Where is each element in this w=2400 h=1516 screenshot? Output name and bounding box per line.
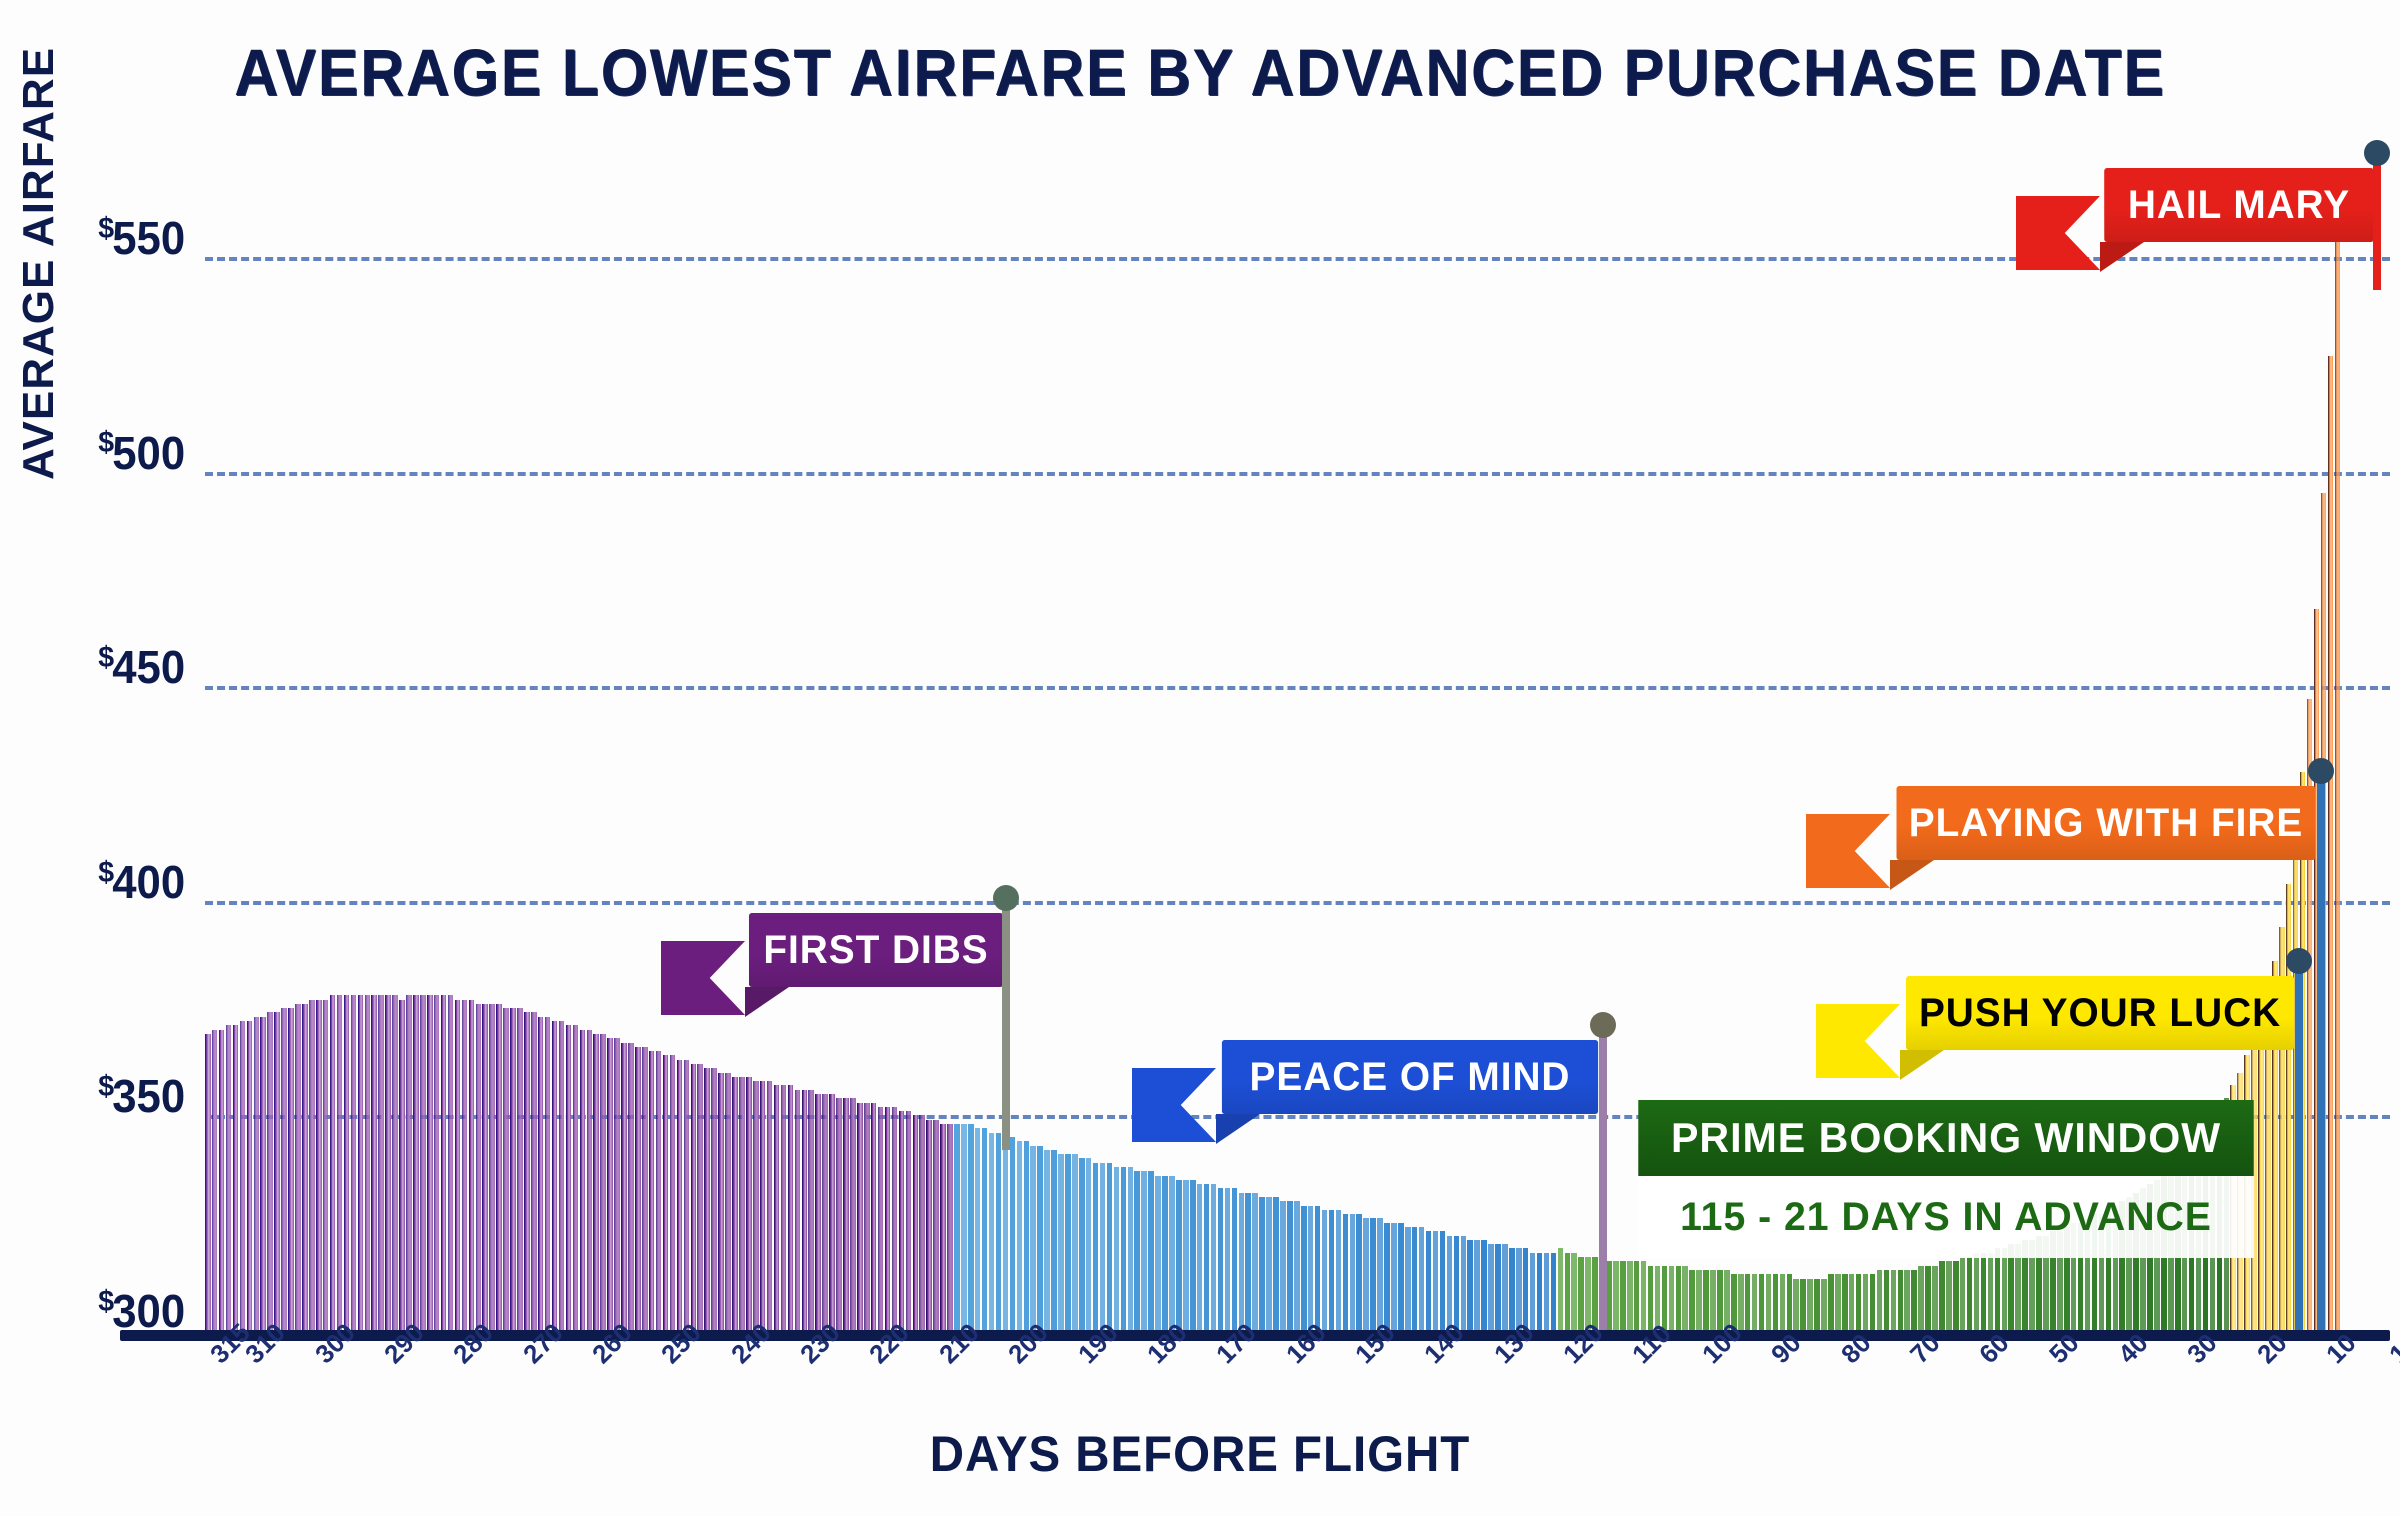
flag-label-hail-mary: HAIL MARY [2104, 168, 2374, 242]
y-tick-550: $550 [98, 211, 185, 265]
y-tick-500: $500 [98, 426, 185, 480]
bar [1967, 1257, 1973, 1330]
bar [469, 1000, 475, 1330]
bar [656, 1051, 662, 1330]
bar [1946, 1261, 1952, 1330]
bar [1960, 1257, 1966, 1330]
bar [1925, 1266, 1931, 1330]
bar [1211, 1184, 1217, 1330]
bar [316, 1000, 322, 1330]
bar [1017, 1141, 1023, 1330]
bar [1849, 1274, 1855, 1330]
bar [1197, 1184, 1203, 1330]
bar [600, 1034, 606, 1330]
bar [552, 1021, 558, 1330]
bar [892, 1107, 898, 1330]
bar [871, 1103, 877, 1330]
bar [795, 1090, 801, 1330]
bar [1835, 1274, 1841, 1330]
bar [1787, 1274, 1793, 1330]
bar [281, 1008, 287, 1330]
bar [1148, 1171, 1154, 1330]
bar [1259, 1197, 1265, 1330]
bar [1884, 1270, 1890, 1330]
bar [1904, 1270, 1910, 1330]
bar [1932, 1266, 1938, 1330]
bar [926, 1120, 932, 1330]
bar [1037, 1146, 1043, 1331]
bar [1391, 1223, 1397, 1330]
bar [566, 1025, 572, 1330]
bar [392, 995, 398, 1330]
bar [996, 1133, 1002, 1330]
bar [1433, 1231, 1439, 1330]
bar [1995, 1248, 2001, 1330]
bar [1821, 1279, 1827, 1330]
bar [1523, 1248, 1529, 1330]
bar [1592, 1257, 1598, 1330]
flag-pole-push-your-luck [2295, 964, 2303, 1330]
bar [1689, 1270, 1695, 1330]
prime-booking-window-subtitle: 115 - 21 DAYS IN ADVANCE [1638, 1176, 2253, 1258]
bar [732, 1077, 738, 1330]
bar [614, 1038, 620, 1330]
flag-pin-first-dibs [993, 885, 1019, 911]
bar [1898, 1270, 1904, 1330]
bar [1280, 1201, 1286, 1330]
bar [1676, 1266, 1682, 1330]
x-axis-title: DAYS BEFORE FLIGHT [60, 1425, 2340, 1483]
bar [767, 1081, 773, 1330]
bar [427, 995, 433, 1330]
y-tick-300: $300 [98, 1284, 185, 1338]
bar [621, 1043, 627, 1330]
flag-pole-hail-mary [2373, 156, 2381, 290]
bar [1544, 1253, 1550, 1330]
bar [406, 995, 412, 1330]
bar [1814, 1279, 1820, 1330]
bar [1565, 1253, 1571, 1330]
bar [1856, 1274, 1862, 1330]
bar [1190, 1180, 1196, 1330]
bar [829, 1094, 835, 1330]
bar [1405, 1227, 1411, 1330]
bar [1010, 1137, 1016, 1330]
bar [1974, 1253, 1980, 1330]
bar [1329, 1210, 1335, 1330]
bar [1988, 1253, 1994, 1330]
bar [399, 1000, 405, 1330]
bar [219, 1030, 225, 1330]
bar [1571, 1253, 1577, 1330]
bar [309, 1000, 315, 1330]
bar [1495, 1244, 1501, 1330]
bar [1759, 1274, 1765, 1330]
bar [1766, 1274, 1772, 1330]
bar [1669, 1266, 1675, 1330]
flag-pin-push-your-luck [2286, 948, 2312, 974]
bar [1121, 1167, 1127, 1330]
bar [628, 1043, 634, 1330]
bar [822, 1094, 828, 1330]
bar [649, 1051, 655, 1330]
bar [982, 1128, 988, 1330]
bar [691, 1064, 697, 1330]
bar [1558, 1248, 1564, 1330]
bar [1356, 1214, 1362, 1330]
bar [906, 1111, 912, 1330]
bar [933, 1120, 939, 1330]
bar [989, 1133, 995, 1330]
chart-title: AVERAGE LOWEST AIRFARE BY ADVANCED PURCH… [96, 34, 2304, 110]
prime-booking-window-title: PRIME BOOKING WINDOW [1638, 1100, 2253, 1176]
bar [1266, 1197, 1272, 1330]
bar [538, 1017, 544, 1330]
bar [1703, 1270, 1709, 1330]
bar [864, 1103, 870, 1330]
bar [1114, 1167, 1120, 1330]
bar [697, 1064, 703, 1330]
bar [815, 1094, 821, 1330]
bar [968, 1124, 974, 1330]
bar [2328, 356, 2334, 1330]
bar [1662, 1266, 1668, 1330]
flag-pole-first-dibs [1002, 901, 1010, 1150]
bar [1981, 1253, 1987, 1330]
bar [919, 1115, 925, 1330]
bar [1141, 1171, 1147, 1330]
bar [843, 1098, 849, 1330]
bar [1627, 1261, 1633, 1330]
bar [476, 1004, 482, 1330]
bar [531, 1012, 537, 1330]
bar [1530, 1253, 1536, 1330]
bar [1343, 1214, 1349, 1330]
bar [351, 995, 357, 1330]
bar [961, 1124, 967, 1330]
bar [510, 1008, 516, 1330]
bar [233, 1025, 239, 1330]
bar [323, 1000, 329, 1330]
bar [753, 1081, 759, 1330]
bar [1537, 1253, 1543, 1330]
bar [1044, 1150, 1050, 1330]
bar [378, 995, 384, 1330]
bar [1419, 1227, 1425, 1330]
bar [1287, 1201, 1293, 1330]
bar [1100, 1163, 1106, 1330]
bar [1398, 1223, 1404, 1330]
bar [1461, 1236, 1467, 1330]
bar [878, 1107, 884, 1330]
bar [496, 1004, 502, 1330]
bar [670, 1055, 676, 1330]
bar [1336, 1210, 1342, 1330]
bar [725, 1073, 731, 1330]
bar [1079, 1158, 1085, 1330]
bar [1065, 1154, 1071, 1330]
bar [1350, 1214, 1356, 1330]
bar [1252, 1193, 1258, 1330]
bar [607, 1038, 613, 1330]
bar [1377, 1218, 1383, 1330]
bar [1322, 1210, 1328, 1330]
bar [2002, 1248, 2008, 1330]
bar [1502, 1244, 1508, 1330]
bar [1384, 1223, 1390, 1330]
bar [371, 995, 377, 1330]
bar [718, 1073, 724, 1330]
y-tick-350: $350 [98, 1069, 185, 1123]
bar [274, 1012, 280, 1330]
bar [704, 1068, 710, 1330]
bar [1773, 1274, 1779, 1330]
bar [1641, 1261, 1647, 1330]
bar [205, 1034, 211, 1330]
bar [1024, 1141, 1030, 1330]
bar [1273, 1197, 1279, 1330]
bar [455, 1000, 461, 1330]
bar [1474, 1240, 1480, 1330]
bar [1169, 1176, 1175, 1330]
bar [1800, 1279, 1806, 1330]
bar [1072, 1154, 1078, 1330]
bar [760, 1081, 766, 1330]
bar [1232, 1188, 1238, 1330]
bar [1107, 1163, 1113, 1330]
bar [2335, 206, 2341, 1330]
bar [1204, 1184, 1210, 1330]
bar [857, 1103, 863, 1330]
bar [254, 1017, 260, 1330]
bar [788, 1085, 794, 1330]
bar [954, 1124, 960, 1330]
bar [1578, 1257, 1584, 1330]
bar [1183, 1180, 1189, 1330]
bar [1509, 1248, 1515, 1330]
bar [1162, 1176, 1168, 1330]
bar [1426, 1231, 1432, 1330]
bar [1086, 1158, 1092, 1330]
bar [885, 1107, 891, 1330]
bar [711, 1068, 717, 1330]
bar [1918, 1266, 1924, 1330]
bar [1225, 1188, 1231, 1330]
bar [850, 1098, 856, 1330]
bar [1634, 1261, 1640, 1330]
bar [1752, 1274, 1758, 1330]
bar [1481, 1240, 1487, 1330]
bar [482, 1004, 488, 1330]
flag-pin-playing-with-fire [2308, 758, 2334, 784]
bar [593, 1034, 599, 1330]
bar [358, 995, 364, 1330]
bar [1245, 1193, 1251, 1330]
bar [573, 1025, 579, 1330]
bar [899, 1111, 905, 1330]
flag-pole-peace-of-mind [1599, 1028, 1607, 1330]
bar [1953, 1261, 1959, 1330]
bar [774, 1085, 780, 1330]
bar [337, 995, 343, 1330]
bar [503, 1008, 509, 1330]
bar [975, 1128, 981, 1330]
bar [1058, 1154, 1064, 1330]
flag-pin-hail-mary [2364, 140, 2390, 166]
bar [642, 1047, 648, 1330]
bar [1488, 1244, 1494, 1330]
bar [295, 1004, 301, 1330]
flag-pole-playing-with-fire [2317, 774, 2325, 1330]
y-tick-450: $450 [98, 640, 185, 694]
bar [559, 1021, 565, 1330]
y-axis-title: AVERAGE AIRFARE [14, 47, 64, 480]
bar [1939, 1261, 1945, 1330]
bar [1793, 1279, 1799, 1330]
bar [247, 1021, 253, 1330]
bar [1301, 1206, 1307, 1330]
bar [1870, 1274, 1876, 1330]
bar [1911, 1270, 1917, 1330]
bar [1003, 1137, 1009, 1330]
bar [1128, 1167, 1134, 1330]
bar [1613, 1261, 1619, 1330]
bar [1551, 1253, 1557, 1330]
bar [1780, 1274, 1786, 1330]
bar [684, 1060, 690, 1330]
flag-label-push-your-luck: PUSH YOUR LUCK [1906, 976, 2294, 1050]
flag-label-peace-of-mind: PEACE OF MIND [1222, 1040, 1598, 1114]
flag-pin-peace-of-mind [1590, 1012, 1616, 1038]
bar [302, 1004, 308, 1330]
bar [739, 1077, 745, 1330]
bar [1696, 1270, 1702, 1330]
bar [1155, 1176, 1161, 1330]
bar [587, 1030, 593, 1330]
bar [1682, 1266, 1688, 1330]
bar [1877, 1270, 1883, 1330]
y-tick-400: $400 [98, 855, 185, 909]
bar [1030, 1146, 1036, 1331]
bar [1620, 1261, 1626, 1330]
bar [226, 1025, 232, 1330]
bar [1440, 1231, 1446, 1330]
bar [1447, 1236, 1453, 1330]
bar [580, 1030, 586, 1330]
bar [365, 995, 371, 1330]
bar [635, 1047, 641, 1330]
bar [462, 1000, 468, 1330]
bar [1745, 1274, 1751, 1330]
bar [1239, 1193, 1245, 1330]
bar [434, 995, 440, 1330]
bar [1467, 1240, 1473, 1330]
bar [1363, 1218, 1369, 1330]
bar [517, 1008, 523, 1330]
bar [212, 1030, 218, 1330]
bar [1454, 1236, 1460, 1330]
bar [1710, 1270, 1716, 1330]
bar [330, 995, 336, 1330]
bar [1606, 1261, 1612, 1330]
bar [1370, 1218, 1376, 1330]
bar [240, 1021, 246, 1330]
bar [1093, 1163, 1099, 1330]
bar [663, 1055, 669, 1330]
bar [1176, 1180, 1182, 1330]
bar [344, 995, 350, 1330]
bar [1134, 1171, 1140, 1330]
bar [1218, 1188, 1224, 1330]
bar [1863, 1274, 1869, 1330]
bar [1051, 1150, 1057, 1330]
bar [1807, 1279, 1813, 1330]
bar [781, 1085, 787, 1330]
bar [947, 1124, 953, 1330]
bar [1412, 1227, 1418, 1330]
bar [1842, 1274, 1848, 1330]
bar [677, 1060, 683, 1330]
flag-label-first-dibs: FIRST DIBS [749, 913, 1003, 987]
bar [940, 1124, 946, 1330]
bar [448, 995, 454, 1330]
bar [489, 1004, 495, 1330]
bar [441, 995, 447, 1330]
bar [260, 1017, 266, 1330]
bar [1294, 1201, 1300, 1330]
bar [802, 1090, 808, 1330]
bar [1315, 1206, 1321, 1330]
bar [1891, 1270, 1897, 1330]
bar [385, 995, 391, 1330]
bar [267, 1012, 273, 1330]
bar [545, 1017, 551, 1330]
flag-label-playing-with-fire: PLAYING WITH FIRE [1896, 786, 2315, 860]
bar [413, 995, 419, 1330]
bar [913, 1115, 919, 1330]
bar [524, 1012, 530, 1330]
bar [1308, 1206, 1314, 1330]
x-tick-1: 1 [2383, 1338, 2400, 1370]
bar [2258, 1017, 2264, 1330]
bar [420, 995, 426, 1330]
bar [808, 1090, 814, 1330]
bar [836, 1098, 842, 1330]
bar [746, 1077, 752, 1330]
bar [288, 1008, 294, 1330]
bar [1738, 1274, 1744, 1330]
bar [1828, 1274, 1834, 1330]
